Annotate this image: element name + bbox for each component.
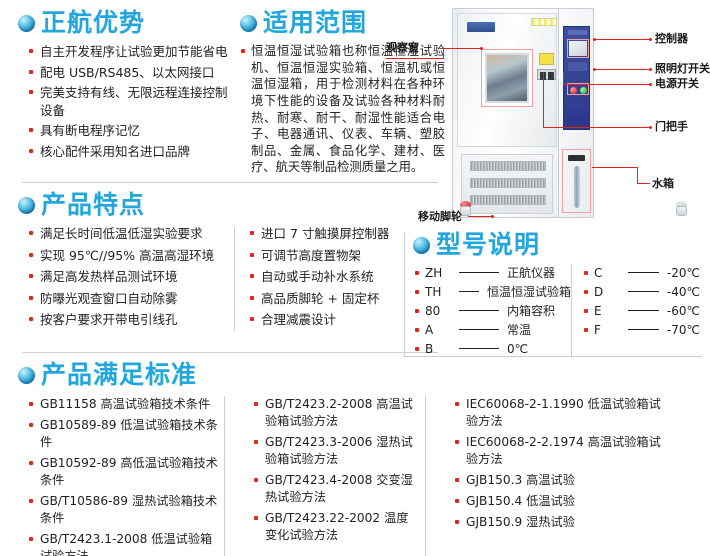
list-item: 满足高发热样品测试环境 bbox=[28, 268, 234, 285]
caster-wheel-icon bbox=[675, 201, 688, 216]
model-row: D -40℃ bbox=[582, 282, 700, 301]
model-column-divider bbox=[571, 264, 572, 357]
list-item: 防曝光观查窗口自动除雾 bbox=[28, 290, 234, 307]
model-dash-icon bbox=[459, 348, 499, 349]
model-desc: 恒温恒湿试验箱 bbox=[487, 283, 571, 300]
model-column-right: C -20℃ D -40℃ E -60℃ F -70℃ bbox=[582, 263, 700, 358]
bullet-orb-icon bbox=[413, 237, 430, 254]
list-item: 高品质脚轮 + 固定杯 bbox=[249, 290, 424, 307]
callout-line bbox=[468, 216, 493, 217]
model-row: E -60℃ bbox=[582, 301, 700, 320]
controller-highlight bbox=[567, 39, 589, 58]
model-row: ZH 正航仪器 bbox=[413, 263, 571, 282]
model-dash-icon bbox=[459, 310, 499, 311]
callout-dot bbox=[649, 83, 652, 86]
observation-window-glass bbox=[485, 53, 529, 103]
list-item: 可调节高度置物架 bbox=[249, 247, 424, 264]
section-advantages-header: 正航优势 bbox=[18, 10, 236, 36]
water-tank-slot bbox=[568, 155, 585, 161]
callout-dot bbox=[649, 38, 652, 41]
section-features: 产品特点 满足长时间低温低湿实验要求 实现 95℃//95% 高温高湿环境 满足… bbox=[18, 192, 438, 333]
callout-observation-window: 观察窗 bbox=[386, 41, 419, 54]
list-item: GB/T10586-89 湿热试验箱技术条件 bbox=[28, 493, 218, 527]
list-item: GB/T2423.1-2008 低温试验箱试验方法 bbox=[28, 531, 218, 556]
standards-list-1: GB11158 高温试验箱技术条件 GB10589-89 低温试验箱技术条件 G… bbox=[28, 396, 218, 556]
divider-middle bbox=[22, 352, 438, 353]
list-item: 自主开发程序让试验更加节能省电 bbox=[28, 43, 236, 61]
list-item: GB/T2423.22-2002 温度变化试验方法 bbox=[253, 510, 419, 544]
bullet-orb-icon bbox=[18, 15, 35, 32]
list-item: GJB150.4 低温试验 bbox=[454, 493, 670, 510]
bullet-orb-icon bbox=[18, 197, 35, 214]
model-row: A 常温 bbox=[413, 320, 571, 339]
model-code: 80 bbox=[425, 304, 451, 318]
model-dash-icon bbox=[628, 291, 659, 292]
advantages-list: 自主开发程序让试验更加节能省电 配电 USB/RS485、以太网接口 完美支持有… bbox=[18, 43, 236, 160]
standards-list-3: IEC60068-2-1.1990 低温试验箱试验方法 IEC60068-2-2… bbox=[454, 396, 670, 531]
power-switch-icon bbox=[570, 87, 577, 94]
water-level-tube bbox=[574, 166, 580, 208]
model-code: C bbox=[594, 266, 620, 280]
model-columns: ZH 正航仪器 TH 恒温恒湿试验箱 80 内箱容积 A 常温 bbox=[413, 263, 702, 358]
section-model-header: 型号说明 bbox=[413, 232, 702, 258]
list-item: 完美支持有线、无限远程连接控制设备 bbox=[28, 84, 236, 119]
product-photo bbox=[452, 2, 602, 224]
model-row: F -70℃ bbox=[582, 320, 700, 339]
list-item: 配电 USB/RS485、以太网接口 bbox=[28, 64, 236, 82]
section-standards-title: 产品满足标准 bbox=[41, 362, 197, 388]
callout-dot bbox=[480, 47, 483, 50]
callout-lighting-switch: 照明灯开关 bbox=[655, 62, 710, 75]
callout-dot bbox=[649, 126, 652, 129]
callout-controller: 控制器 bbox=[655, 32, 688, 45]
controller-screen bbox=[569, 41, 587, 56]
water-tank-highlight bbox=[562, 149, 591, 213]
standards-divider-2 bbox=[425, 396, 426, 556]
section-features-header: 产品特点 bbox=[18, 192, 438, 218]
door-handle-icon bbox=[537, 69, 556, 80]
callout-water-tank: 水箱 bbox=[652, 177, 674, 190]
callout-line bbox=[637, 183, 650, 184]
model-dash-icon bbox=[628, 310, 659, 311]
model-code: B bbox=[425, 342, 451, 356]
callout-line bbox=[443, 48, 444, 59]
list-item: GB10592-89 高低温试验箱技术条件 bbox=[28, 455, 218, 489]
control-column bbox=[558, 8, 594, 218]
callout-line bbox=[637, 167, 638, 184]
control-panel bbox=[563, 26, 590, 130]
model-code: A bbox=[425, 323, 451, 337]
model-desc: -20℃ bbox=[667, 266, 700, 280]
list-item: 满足长时间低温低湿实验要求 bbox=[28, 225, 234, 242]
callout-line bbox=[594, 69, 650, 70]
list-item: 进口 7 寸触摸屏控制器 bbox=[249, 225, 424, 242]
standards-columns: GB11158 高温试验箱技术条件 GB10589-89 低温试验箱技术条件 G… bbox=[18, 396, 702, 556]
section-model-title: 型号说明 bbox=[436, 232, 540, 258]
observation-window-highlight bbox=[481, 49, 533, 107]
section-standards-header: 产品满足标准 bbox=[18, 362, 702, 388]
list-item: GB11158 高温试验箱技术条件 bbox=[28, 396, 218, 413]
callout-line bbox=[592, 167, 638, 168]
model-desc: 正航仪器 bbox=[507, 264, 555, 281]
standards-column-2: GB/T2423.2-2008 高温试验箱试验方法 GB/T2423.3-200… bbox=[239, 396, 419, 556]
lower-vent-panel bbox=[461, 154, 553, 214]
brand-logo-icon bbox=[467, 22, 495, 32]
list-item: GB/T2423.2-2008 高温试验箱试验方法 bbox=[253, 396, 419, 430]
callout-dot bbox=[491, 215, 494, 218]
callout-line bbox=[563, 84, 650, 85]
features-column-left: 满足长时间低温低湿实验要求 实现 95℃//95% 高温高湿环境 满足高发热样品… bbox=[18, 225, 234, 333]
scope-paragraph: 恒温恒湿试验箱也称恒温恒湿试验机、恒温恒湿实验箱、恒温机或恒温恒湿箱，用于检测材… bbox=[240, 43, 445, 176]
model-row: 80 内箱容积 bbox=[413, 301, 571, 320]
features-columns: 满足长时间低温低湿实验要求 实现 95℃//95% 高温高湿环境 满足高发热样品… bbox=[18, 225, 438, 333]
model-code: F bbox=[594, 323, 620, 337]
bullet-orb-icon bbox=[18, 367, 35, 384]
model-column-left: ZH 正航仪器 TH 恒温恒湿试验箱 80 内箱容积 A 常温 bbox=[413, 263, 571, 358]
model-code: D bbox=[594, 285, 620, 299]
panel-caption-bar bbox=[568, 30, 587, 35]
list-item: GB/T2423.4-2008 交变湿热试验方法 bbox=[253, 472, 419, 506]
model-code: ZH bbox=[425, 266, 451, 280]
list-item: 合理减震设计 bbox=[249, 311, 424, 328]
callout-dot bbox=[649, 68, 652, 71]
list-item: 实现 95℃//95% 高温高湿环境 bbox=[28, 247, 234, 264]
callout-power-switch: 电源开关 bbox=[655, 77, 699, 90]
list-item: GJB150.3 高温试验 bbox=[454, 472, 670, 489]
section-scope-header: 适用范围 bbox=[240, 10, 445, 36]
model-code: E bbox=[594, 304, 620, 318]
divider-top bbox=[22, 182, 438, 183]
standards-column-3: IEC60068-2-1.1990 低温试验箱试验方法 IEC60068-2-2… bbox=[440, 396, 670, 556]
lighting-switch-icon bbox=[580, 87, 587, 94]
warning-label-icon bbox=[539, 53, 554, 65]
features-column-divider bbox=[234, 227, 235, 331]
standards-list-2: GB/T2423.2-2008 高温试验箱试验方法 GB/T2423.3-200… bbox=[253, 396, 419, 544]
list-item: GB/T2423.3-2006 湿热试验箱试验方法 bbox=[253, 434, 419, 468]
list-item: GJB150.9 湿热试验 bbox=[454, 514, 670, 531]
list-item: IEC60068-2-2.1974 高温试验箱试验方法 bbox=[454, 434, 670, 468]
features-left-list: 满足长时间低温低湿实验要求 实现 95℃//95% 高温高湿环境 满足高发热样品… bbox=[28, 225, 234, 328]
model-row: C -20℃ bbox=[582, 263, 700, 282]
list-item: IEC60068-2-1.1990 低温试验箱试验方法 bbox=[454, 396, 670, 430]
callout-line bbox=[543, 127, 650, 128]
list-item: 自动或手动补水系统 bbox=[249, 268, 424, 285]
model-dash-icon bbox=[459, 291, 479, 292]
model-row: TH 恒温恒湿试验箱 bbox=[413, 282, 571, 301]
model-dash-icon bbox=[459, 329, 499, 330]
callout-line bbox=[443, 48, 481, 49]
callout-line bbox=[386, 58, 444, 59]
callout-line bbox=[543, 72, 544, 128]
model-dash-icon bbox=[459, 272, 499, 273]
model-desc: 内箱容积 bbox=[507, 302, 555, 319]
model-desc: 常温 bbox=[507, 321, 531, 338]
standards-column-1: GB11158 高温试验箱技术条件 GB10589-89 低温试验箱技术条件 G… bbox=[18, 396, 218, 556]
section-advantages-title: 正航优势 bbox=[41, 10, 145, 36]
model-dash-icon bbox=[628, 272, 659, 273]
top-vent-icon bbox=[531, 18, 557, 26]
list-item: 按客户要求开带电引线孔 bbox=[28, 311, 234, 328]
standards-divider-1 bbox=[224, 396, 225, 556]
list-item: GB10589-89 低温试验箱技术条件 bbox=[28, 417, 218, 451]
list-item: 核心配件采用知名进口品牌 bbox=[28, 143, 236, 161]
section-scope: 适用范围 恒温恒湿试验箱也称恒温恒湿试验机、恒温恒湿实验箱、恒温机或恒温恒湿箱，… bbox=[240, 10, 445, 176]
model-row: B 0℃ bbox=[413, 339, 571, 358]
section-standards: 产品满足标准 GB11158 高温试验箱技术条件 GB10589-89 低温试验… bbox=[18, 362, 702, 556]
model-desc: -70℃ bbox=[667, 323, 700, 337]
section-scope-title: 适用范围 bbox=[263, 10, 367, 36]
features-right-list: 进口 7 寸触摸屏控制器 可调节高度置物架 自动或手动补水系统 高品质脚轮 + … bbox=[249, 225, 424, 328]
model-dash-icon bbox=[628, 329, 659, 330]
callout-moving-caster: 移动脚轮 bbox=[418, 210, 462, 223]
model-code: TH bbox=[425, 285, 451, 299]
section-features-title: 产品特点 bbox=[41, 192, 145, 218]
callout-line bbox=[594, 39, 650, 40]
section-model: 型号说明 ZH 正航仪器 TH 恒温恒湿试验箱 80 内箱容积 bbox=[404, 232, 702, 357]
callout-door-handle: 门把手 bbox=[655, 120, 688, 133]
features-column-right: 进口 7 寸触摸屏控制器 可调节高度置物架 自动或手动补水系统 高品质脚轮 + … bbox=[249, 225, 424, 333]
model-desc: 0℃ bbox=[507, 342, 528, 356]
panel-footer-block bbox=[567, 103, 588, 125]
model-desc: -40℃ bbox=[667, 285, 700, 299]
panel-subtitle-bar bbox=[568, 62, 587, 71]
list-item: 具有断电程序记忆 bbox=[28, 122, 236, 140]
bullet-orb-icon bbox=[240, 15, 257, 32]
model-desc: -60℃ bbox=[667, 304, 700, 318]
section-advantages: 正航优势 自主开发程序让试验更加节能省电 配电 USB/RS485、以太网接口 … bbox=[18, 10, 236, 163]
infographic-page: 正航优势 自主开发程序让试验更加节能省电 配电 USB/RS485、以太网接口 … bbox=[0, 0, 710, 556]
